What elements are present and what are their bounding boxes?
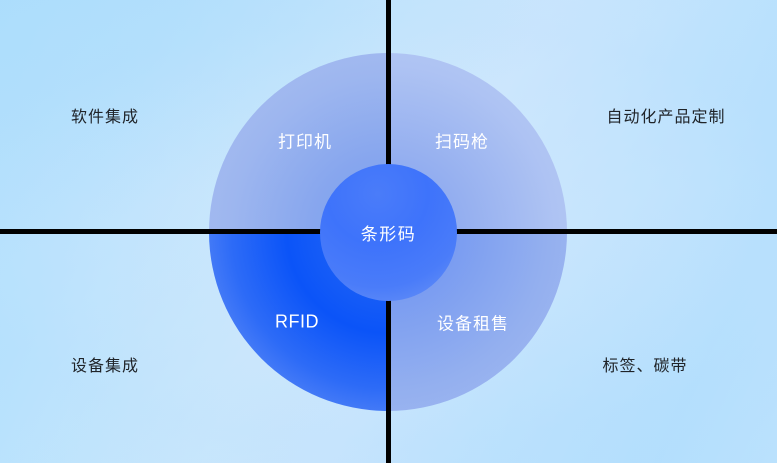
outer-label-software-integration: 软件集成 [71, 103, 139, 127]
outer-label-labels-ribbons: 标签、碳带 [602, 352, 687, 376]
center-circle-label: 条形码 [361, 220, 417, 245]
outer-label-automation-customization: 自动化产品定制 [606, 103, 725, 127]
center-circle[interactable]: 条形码 [320, 164, 457, 301]
ring-label-rfid: RFID [275, 312, 319, 333]
outer-label-device-integration: 设备集成 [71, 352, 139, 376]
ring-label-scanner: 扫码枪 [435, 128, 489, 153]
diagram-canvas: 条形码 打印机 扫码枪 RFID 设备租售 软件集成 自动化产品定制 设备集成 … [0, 0, 777, 463]
ring-label-printer: 打印机 [278, 128, 332, 153]
ring-label-equipment-rental: 设备租售 [437, 310, 509, 335]
